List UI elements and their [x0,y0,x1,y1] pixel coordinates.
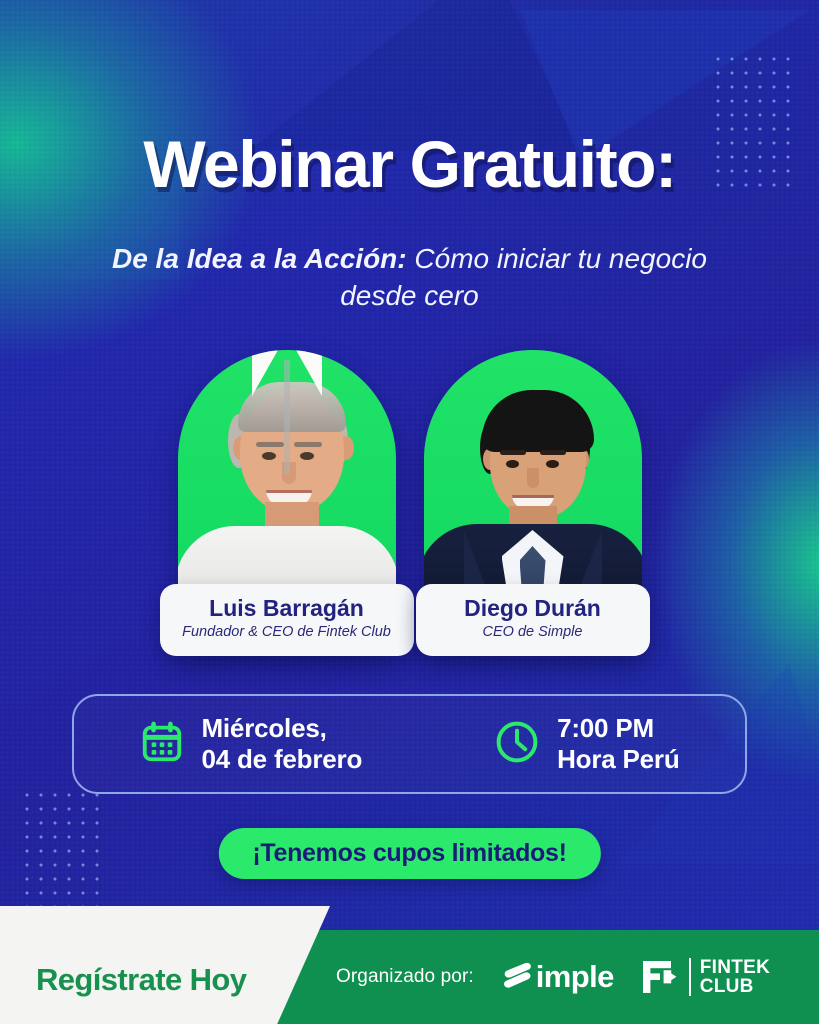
register-cta-label[interactable]: Regístrate Hoy [36,962,246,998]
speaker-nameplate-2: Diego Durán CEO de Simple [416,584,650,656]
event-time-item: 7:00 PM Hora Perú [493,713,679,774]
event-info-bar: Miércoles, 04 de febrero 7:00 PM Hora Pe… [72,694,747,794]
fintek-f-mark [640,956,680,998]
event-time-line2: Hora Perú [557,744,679,775]
fintek-wordmark: FINTEK CLUB [700,958,770,996]
fintek-club-logo[interactable]: FINTEK CLUB [640,956,770,998]
simple-logo[interactable]: imple [500,959,614,995]
speaker-role: Fundador & CEO de Fintek Club [170,624,404,642]
calendar-icon [139,719,185,770]
speaker-role: CEO de Simple [426,624,640,642]
speaker-name: Luis Barragán [170,596,404,621]
event-time-line1: 7:00 PM [557,713,679,744]
dot-grid-bottom-left [20,788,106,914]
speakers-row: Luis Barragán Fundador & CEO de Fintek C… [0,350,819,650]
simple-s-mark [500,960,534,994]
webinar-poster: Webinar Gratuito: De la Idea a la Acción… [0,0,819,1024]
subtitle-bold-part: De la Idea a la Acción: [112,243,407,274]
fintek-logo-divider [689,958,691,996]
speaker-card-2: Diego Durán CEO de Simple [424,350,642,650]
speaker-name: Diego Durán [426,596,640,621]
event-date-text: Miércoles, 04 de febrero [201,713,362,774]
event-date-line2: 04 de febrero [201,744,362,775]
clock-icon [493,718,541,771]
footer-sponsors: Organizado por: imple FINTEK [330,930,819,1024]
event-date-line1: Miércoles, [201,713,362,744]
page-title: Webinar Gratuito: [0,126,819,202]
event-time-text: 7:00 PM Hora Perú [557,713,679,774]
speaker-card-1: Luis Barragán Fundador & CEO de Fintek C… [178,350,396,650]
page-subtitle: De la Idea a la Acción: Cómo iniciar tu … [90,240,729,314]
event-date-item: Miércoles, 04 de febrero [139,713,362,774]
simple-wordmark: imple [536,959,614,995]
fintek-line1: FINTEK [700,958,770,977]
speaker-nameplate-1: Luis Barragán Fundador & CEO de Fintek C… [160,584,414,656]
fintek-line2: CLUB [700,977,770,996]
limited-seats-badge[interactable]: ¡Tenemos cupos limitados! [218,828,600,879]
footer-bar: Organizado por: imple FINTEK [0,930,819,1024]
organized-by-label: Organizado por: [336,966,474,988]
